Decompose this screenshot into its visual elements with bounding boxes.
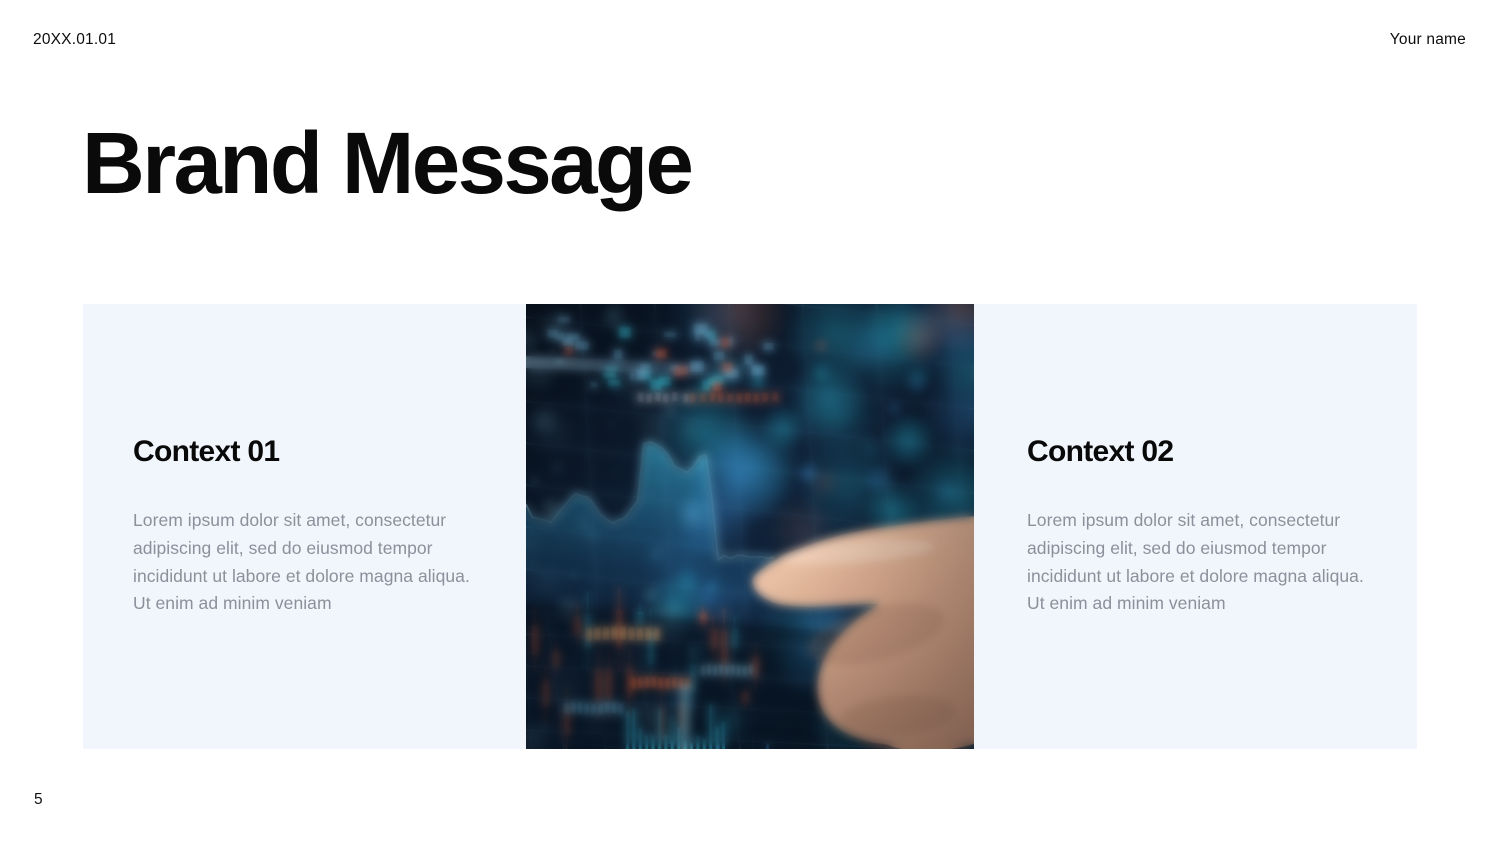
slide-date: 20XX.01.01 — [33, 31, 116, 49]
page-title: Brand Message — [82, 118, 691, 209]
trading-screen-image — [526, 304, 974, 749]
context-column-01: Context 01 Lorem ipsum dolor sit amet, c… — [83, 304, 526, 749]
context-heading-02: Context 02 — [1027, 435, 1393, 468]
slide-author: Your name — [1390, 31, 1466, 49]
trading-screen-canvas — [526, 304, 974, 749]
context-column-02: Context 02 Lorem ipsum dolor sit amet, c… — [974, 304, 1417, 749]
page-number: 5 — [34, 791, 43, 809]
content-panel: Context 01 Lorem ipsum dolor sit amet, c… — [83, 304, 1417, 749]
slide: 20XX.01.01 Your name Brand Message Conte… — [0, 0, 1500, 844]
context-body-02: Lorem ipsum dolor sit amet, consectetur … — [1027, 507, 1367, 618]
context-body-01: Lorem ipsum dolor sit amet, consectetur … — [133, 507, 473, 618]
context-heading-01: Context 01 — [133, 435, 502, 468]
